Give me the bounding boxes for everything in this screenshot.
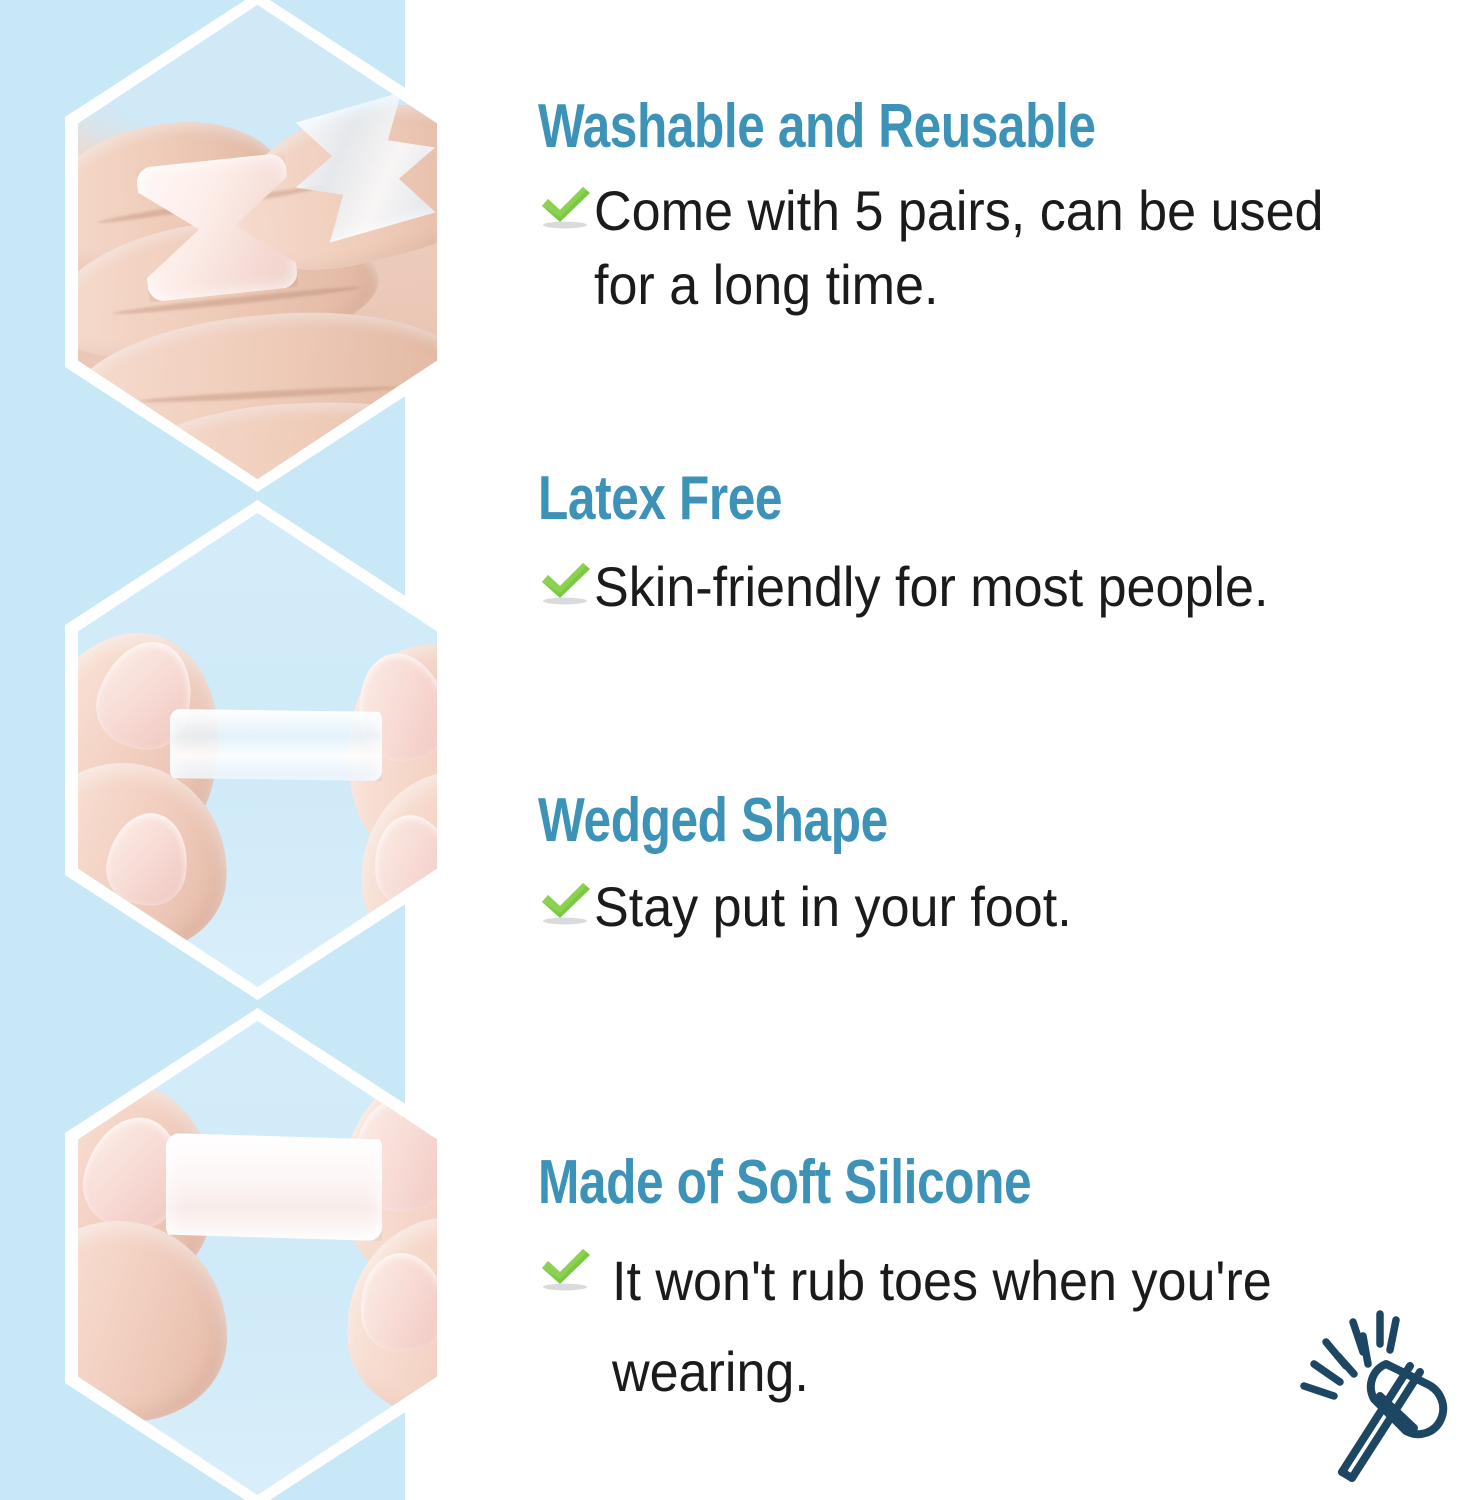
feature-body-row-latex-free: Skin-friendly for most people. [538, 550, 1475, 624]
feature-body-row-washable-and-reusable: Come with 5 pairs, can be used for a lon… [538, 174, 1475, 322]
green-check-icon [538, 183, 594, 229]
feature-body-wedged-shape: Stay put in your foot. [594, 870, 1072, 944]
feature-block-washable-and-reusable: Washable and Reusable Come with 5 pairs,… [538, 96, 1475, 322]
feature-block-latex-free: Latex Free Skin-friendly for most people… [538, 468, 1475, 624]
feature-heading-made-of-soft-silicone: Made of Soft Silicone [538, 1152, 1306, 1214]
green-check-icon [538, 559, 594, 605]
feature-body-washable-and-reusable: Come with 5 pairs, can be used for a lon… [594, 174, 1324, 322]
feature-heading-wedged-shape: Wedged Shape [538, 790, 1306, 852]
feature-body-latex-free: Skin-friendly for most people. [594, 550, 1268, 624]
feature-block-wedged-shape: Wedged Shape Stay put in your foot. [538, 790, 1475, 944]
green-check-icon [538, 879, 594, 925]
push-pin-sparkle-icon [1268, 1300, 1458, 1500]
feature-heading-washable-and-reusable: Washable and Reusable [538, 96, 1306, 158]
feature-heading-latex-free: Latex Free [538, 468, 1306, 530]
feature-list: Washable and Reusable Come with 5 pairs,… [0, 0, 1475, 1500]
feature-body-made-of-soft-silicone: It won't rub toes when you're wearing. [612, 1236, 1272, 1417]
green-check-icon [538, 1245, 594, 1291]
infographic-canvas: Washable and Reusable Come with 5 pairs,… [0, 0, 1475, 1500]
feature-body-row-wedged-shape: Stay put in your foot. [538, 870, 1475, 944]
